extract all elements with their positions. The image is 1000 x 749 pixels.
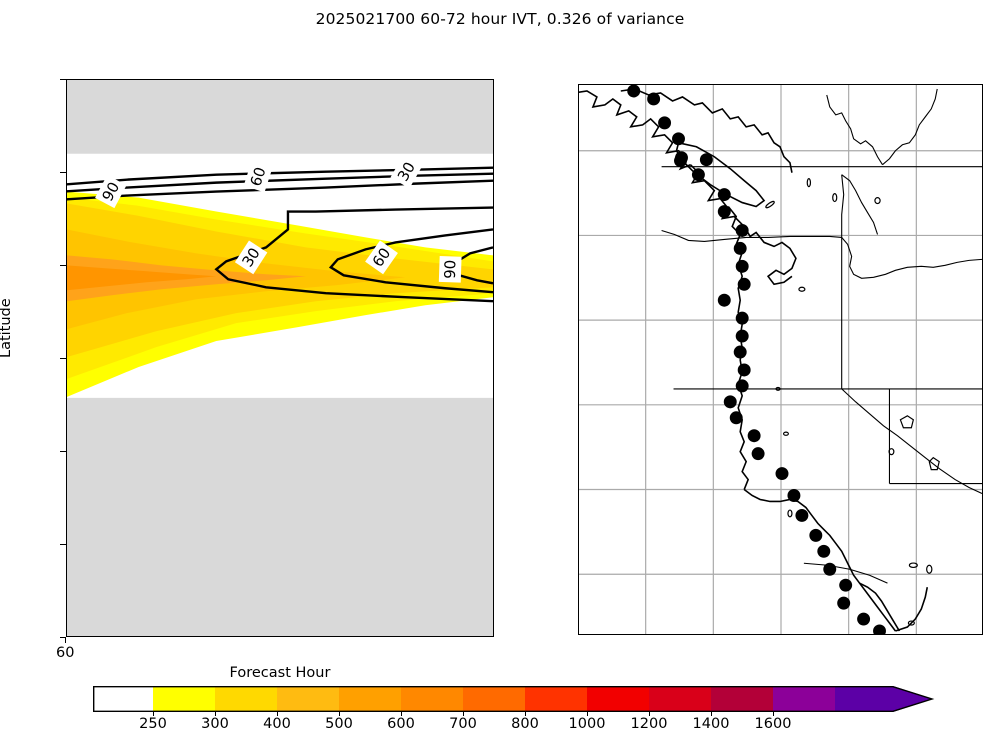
ytick-mark-45 [60, 265, 66, 266]
map-graphic [579, 85, 982, 634]
station-marker [627, 85, 640, 97]
cbar-seg-12 [835, 686, 893, 712]
ytick-mark-30 [60, 544, 66, 545]
ivt-variance-panel: 90 60 30 30 [66, 79, 494, 637]
cbar-seg-11 [773, 686, 835, 712]
cbar-tick-label-1600: 1600 [755, 716, 792, 732]
page-title: 2025021700 60-72 hour IVT, 0.326 of vari… [0, 10, 1000, 28]
station-marker [837, 597, 850, 610]
station-marker [809, 529, 822, 542]
station-marker [647, 92, 660, 105]
ytick-mark-40 [60, 358, 66, 359]
west-coast-map [578, 84, 983, 635]
station-marker [700, 153, 713, 166]
cbar-seg-7 [525, 686, 587, 712]
station-marker [738, 363, 751, 376]
ivt-variance-plot: 90 60 30 30 [67, 80, 493, 636]
cbar-tick-label-800: 800 [511, 716, 539, 732]
cbar-tick-label-1200: 1200 [631, 716, 668, 732]
cbar-tick-label-1000: 1000 [569, 716, 606, 732]
station-marker [724, 395, 737, 408]
cbar-tick-label-300: 300 [201, 716, 229, 732]
station-marker [730, 411, 743, 424]
ytick-mark-50 [60, 172, 66, 173]
colorbar-label: Forecast Hour [190, 665, 370, 681]
figure-canvas: 2025021700 60-72 hour IVT, 0.326 of vari… [0, 0, 1000, 749]
station-marker [718, 188, 731, 201]
cbar-seg-8 [587, 686, 649, 712]
cbar-tick-label-500: 500 [325, 716, 353, 732]
station-marker [674, 154, 687, 167]
station-marker [692, 168, 705, 181]
cbar-tick-label-250: 250 [139, 716, 167, 732]
station-marker [718, 205, 731, 218]
station-marker [672, 132, 685, 145]
colorbar-graphic [93, 686, 933, 712]
station-marker [795, 509, 808, 522]
ytick-mark-55 [60, 79, 66, 80]
station-marker [787, 489, 800, 502]
cbar-seg-9 [649, 686, 711, 712]
cbar-tick-label-600: 600 [387, 716, 415, 732]
y-axis-label: Latitude [0, 298, 14, 358]
station-marker [817, 545, 830, 558]
ytick-mark-35 [60, 451, 66, 452]
cbar-seg-1 [153, 686, 215, 712]
xtick-label-60: 60 [56, 645, 74, 661]
colorbar [93, 686, 933, 712]
station-marker [736, 330, 749, 343]
cbar-seg-5 [401, 686, 463, 712]
station-marker [748, 429, 761, 442]
cbar-extend-arrow [893, 686, 933, 712]
station-marker [658, 116, 671, 129]
station-marker [839, 579, 852, 592]
station-marker [752, 447, 765, 460]
station-marker [736, 379, 749, 392]
station-marker [734, 346, 747, 359]
station-marker [736, 260, 749, 273]
station-marker [823, 563, 836, 576]
cbar-seg-6 [463, 686, 525, 712]
cbar-tick-label-400: 400 [263, 716, 291, 732]
cbar-seg-10 [711, 686, 773, 712]
station-marker [738, 278, 751, 291]
station-marker [718, 294, 731, 307]
station-marker [734, 242, 747, 255]
station-marker [857, 613, 870, 626]
xtick-mark-60 [65, 637, 66, 643]
cbar-tick-label-1400: 1400 [693, 716, 730, 732]
station-marker [736, 312, 749, 325]
cbar-seg-2 [215, 686, 277, 712]
contour-label-90b: 90 [441, 260, 460, 280]
cbar-seg-4 [339, 686, 401, 712]
cbar-seg-0 [93, 686, 153, 712]
station-marker [776, 467, 789, 480]
cbar-seg-3 [277, 686, 339, 712]
colorbar-segments [93, 686, 933, 712]
cbar-tick-label-700: 700 [449, 716, 477, 732]
station-marker [736, 224, 749, 237]
